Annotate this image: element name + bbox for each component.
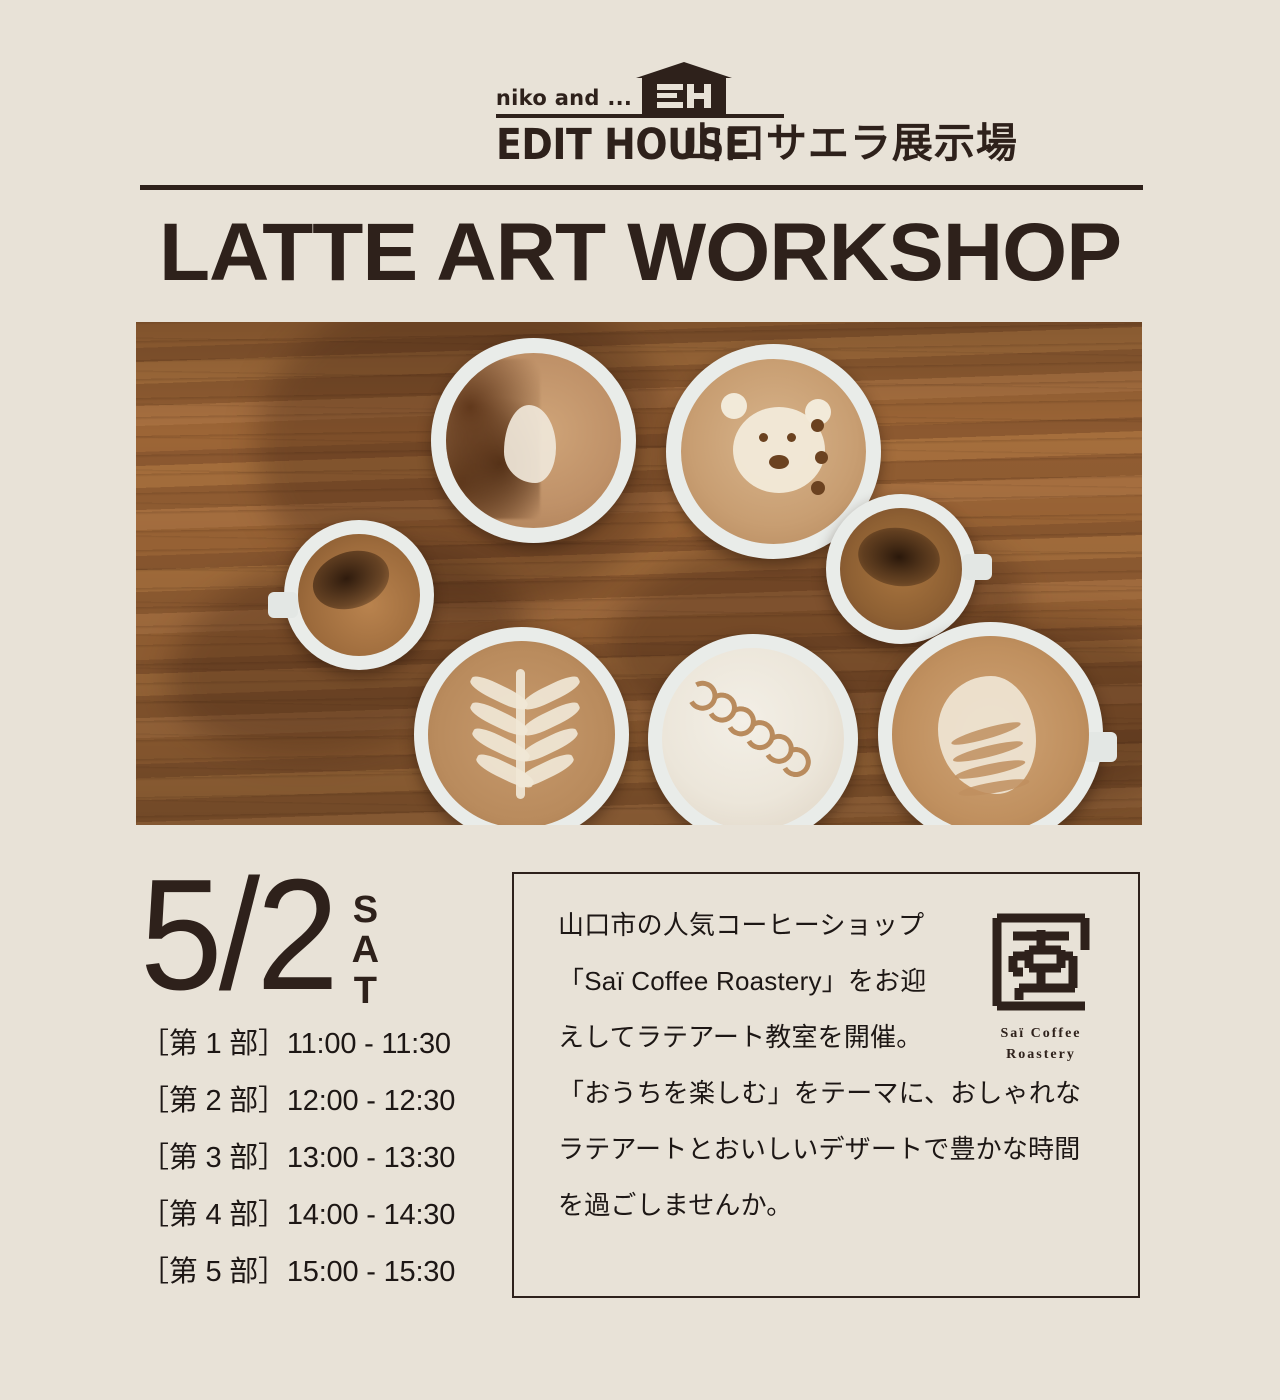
letter-e-glyph bbox=[657, 84, 683, 108]
latte-art-dot bbox=[811, 419, 824, 432]
bear-snout bbox=[769, 455, 789, 469]
latte-art-stencil bbox=[504, 405, 556, 483]
espresso-cup-right bbox=[826, 494, 976, 644]
house-roof-shape bbox=[636, 62, 732, 78]
partner-name-line-2: Roastery bbox=[982, 1044, 1100, 1065]
session-row: ［第 2 部］12:00 - 12:30 bbox=[140, 1087, 480, 1116]
cup-handle bbox=[268, 592, 298, 618]
brand-lockup: niko and ... EDIT HOUSE 山口サエラ展示場 bbox=[496, 68, 784, 170]
niko-and-label: niko and ... bbox=[496, 86, 632, 114]
latte-art-dot bbox=[815, 451, 828, 464]
bear-head bbox=[733, 407, 825, 493]
coffee-cup-cocoa-dusted bbox=[431, 338, 636, 543]
day-of-week-letter: S bbox=[353, 890, 378, 930]
cup-surface bbox=[681, 359, 866, 544]
session-row: ［第 1 部］11:00 - 11:30 bbox=[140, 1030, 480, 1059]
day-of-week: S A T bbox=[352, 890, 379, 1011]
event-date-block: 5/2 S A T bbox=[140, 866, 379, 1011]
day-of-week-letter: T bbox=[354, 971, 377, 1011]
cup-surface bbox=[892, 636, 1089, 825]
description-box: 山口市の人気コーヒーショップ 「Saï Coffee Roastery」をお迎 … bbox=[512, 872, 1140, 1298]
header: niko and ... EDIT HOUSE 山口サエラ展示場 bbox=[0, 88, 1280, 170]
brand-top-row: niko and ... bbox=[496, 68, 732, 114]
session-row: ［第 5 部］15:00 - 15:30 bbox=[140, 1258, 480, 1287]
sai-coffee-seal-icon bbox=[989, 910, 1093, 1014]
description-line: 「おうちを楽しむ」をテーマに、おしゃれな bbox=[558, 1080, 1118, 1106]
header-divider bbox=[140, 185, 1143, 190]
hero-photo bbox=[136, 322, 1142, 825]
partner-logo-name: Saï Coffee Roastery bbox=[982, 1023, 1100, 1065]
event-date: 5/2 bbox=[140, 866, 335, 1005]
letter-h-glyph bbox=[687, 84, 711, 108]
cup-surface bbox=[428, 641, 615, 825]
latte-art-dot bbox=[811, 481, 825, 495]
cup-handle bbox=[962, 554, 992, 580]
cup-surface bbox=[446, 353, 621, 528]
espresso-crema bbox=[305, 541, 396, 618]
bear-eye bbox=[787, 433, 796, 442]
partner-name-line-1: Saï Coffee bbox=[982, 1023, 1100, 1044]
description-line: を過ごしませんか。 bbox=[558, 1192, 1118, 1218]
session-row: ［第 4 部］14:00 - 14:30 bbox=[140, 1201, 480, 1230]
partner-logo: Saï Coffee Roastery bbox=[982, 910, 1100, 1065]
cup-surface bbox=[298, 534, 420, 656]
bear-ear bbox=[721, 393, 747, 419]
page-title: LATTE ART WORKSHOP bbox=[0, 206, 1280, 300]
bear-eye bbox=[759, 433, 768, 442]
session-list: ［第 1 部］11:00 - 11:30 ［第 2 部］12:00 - 12:3… bbox=[140, 1030, 480, 1315]
espresso-crema bbox=[854, 523, 943, 592]
poster: niko and ... EDIT HOUSE 山口サエラ展示場 LATTE A… bbox=[0, 0, 1280, 1400]
venue-name: 山口サエラ展示場 bbox=[682, 109, 1018, 169]
edit-house-mark-icon bbox=[636, 62, 732, 114]
cup-surface bbox=[840, 508, 962, 630]
espresso-cup-left bbox=[284, 520, 434, 670]
cup-surface bbox=[662, 648, 844, 825]
latte-art-swirl bbox=[672, 671, 834, 788]
session-row: ［第 3 部］13:00 - 13:30 bbox=[140, 1144, 480, 1173]
day-of-week-letter: A bbox=[352, 930, 379, 970]
description-line: ラテアートとおいしいデザートで豊かな時間 bbox=[558, 1136, 1118, 1162]
